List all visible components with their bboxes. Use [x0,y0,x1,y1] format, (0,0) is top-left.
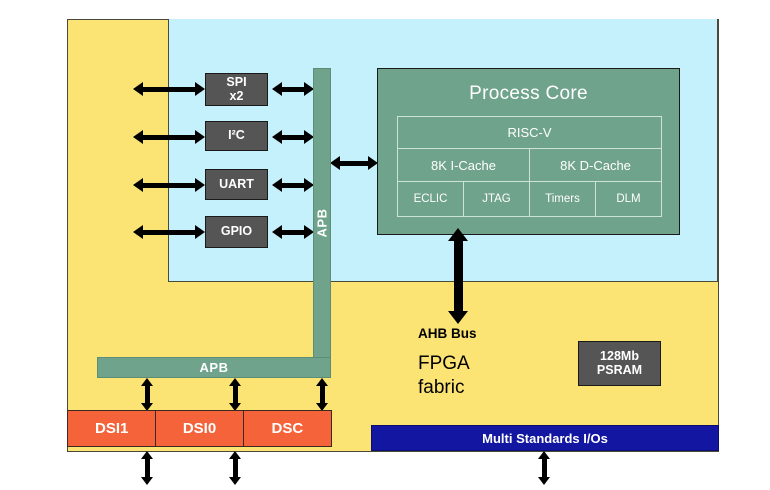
core-cell-jtag: JTAG [464,182,530,216]
core-cell-dcache: 8K D-Cache [530,149,661,182]
display-block-dsi0[interactable]: DSI0 [155,410,244,447]
core-row-units: ECLIC JTAG Timers DLM [398,182,661,216]
fpga-fabric-label-line2: fabric [418,376,470,400]
apb-bus-horizontal: APB [97,357,331,378]
ahb-bus-label: AHB Bus [418,326,477,341]
core-cell-dlm: DLM [596,182,661,216]
process-core-title: Process Core [378,83,679,105]
fpga-fabric-label-line1: FPGA [418,352,470,376]
arrow-apb-to-dsi0 [226,378,244,411]
core-row-isa: RISC-V [398,117,661,149]
arrow-dsi1-external [138,451,156,485]
arrow-uart-to-apb [272,177,314,193]
arrow-spi-to-apb [272,81,314,97]
spi-label-line1: SPI [226,76,246,90]
apb-horizontal-label: APB [200,360,229,375]
display-block-dsc[interactable]: DSC [243,410,332,447]
apb-bus-vertical: APB [313,68,331,377]
core-cell-riscv: RISC-V [398,117,661,149]
core-cell-timers: Timers [530,182,596,216]
arrow-i2c-to-apb [272,129,314,145]
arrow-external-to-uart [133,177,205,193]
core-cell-eclic: ECLIC [398,182,464,216]
arrow-apb-to-dsc [313,378,331,411]
display-block-dsi1[interactable]: DSI1 [67,410,156,447]
arrow-external-to-i2c [133,129,205,145]
psram-memory-block[interactable]: 128Mb PSRAM [578,341,661,386]
multi-standards-io-bar[interactable]: Multi Standards I/Os [371,425,719,451]
arrow-external-to-gpio [133,224,205,240]
display-interface-row: DSI1 DSI0 DSC [67,410,332,447]
uart-label: UART [219,178,254,192]
process-core-block[interactable]: Process Core RISC-V 8K I-Cache 8K D-Cach… [377,68,680,235]
arrow-apb-to-process-core [330,155,378,171]
fpga-fabric-label: FPGA fabric [418,352,470,401]
psram-label-line1: 128Mb [600,350,639,364]
arrow-gpio-to-apb [272,224,314,240]
peripheral-block-spi[interactable]: SPI x2 [205,73,268,106]
core-row-caches: 8K I-Cache 8K D-Cache [398,149,661,182]
peripheral-block-i2c[interactable]: I²C [205,121,268,151]
arrow-external-to-spi [133,81,205,97]
process-core-grid: RISC-V 8K I-Cache 8K D-Cache ECLIC JTAG … [397,116,662,217]
peripheral-block-gpio[interactable]: GPIO [205,216,268,248]
fpga-soc-block-diagram: APB APB SPI x2 I²C UART GPIO Process Cor… [0,0,770,490]
peripheral-block-uart[interactable]: UART [205,169,268,200]
spi-label-line2: x2 [230,90,244,104]
core-cell-icache: 8K I-Cache [398,149,530,182]
i2c-label: I²C [228,129,245,143]
apb-vertical-label: APB [315,208,330,237]
arrow-ahb-bus [447,228,469,324]
arrow-dsi0-external [226,451,244,485]
gpio-label: GPIO [221,225,252,239]
psram-label-line2: PSRAM [597,364,642,378]
arrow-multi-io-external [535,451,553,485]
arrow-apb-to-dsi1 [138,378,156,411]
